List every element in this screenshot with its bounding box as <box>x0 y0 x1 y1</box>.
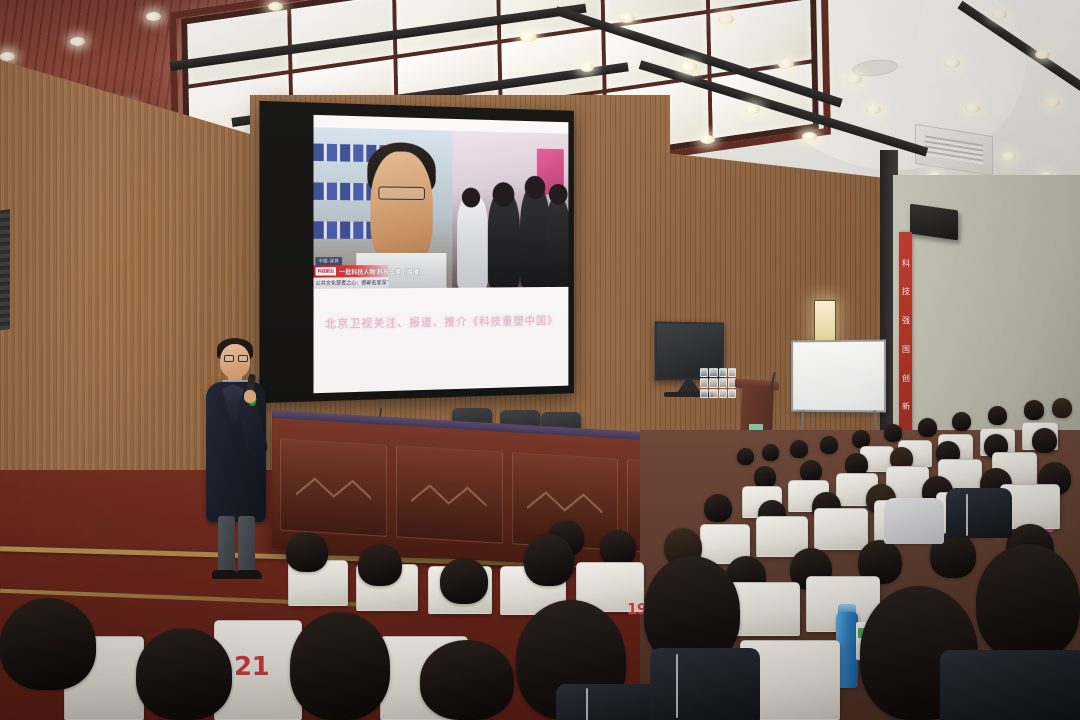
audience-head <box>762 444 779 461</box>
presenter-speaker <box>198 338 272 586</box>
audience-head <box>600 530 636 566</box>
podium-decor-panel <box>280 439 387 537</box>
slide-image-exhibition <box>452 131 568 288</box>
audience-uniform <box>946 488 1012 538</box>
audience-head <box>1052 398 1072 418</box>
downlight-icon <box>965 104 980 113</box>
downlight-icon <box>580 63 594 72</box>
downlight-icon <box>944 58 960 68</box>
audience-uniform <box>650 648 760 720</box>
downlight-icon <box>992 10 1007 19</box>
news-ticker-bar: 公共文化营者之心：邯郸名家深飞扬学带着乐助书院，报名大… <box>313 277 387 289</box>
banner-char: 创 <box>902 374 910 382</box>
presenter-hand <box>244 390 256 403</box>
presenter-shoe <box>212 570 238 579</box>
projection-screen-frame: 中国-深圳 科技前沿 一批科技人物 科技成果［展播］ 公共文化营者之心：邯郸名家… <box>259 101 573 403</box>
audience-head <box>754 466 776 488</box>
chevron-icon <box>411 482 486 508</box>
audience-head <box>704 494 732 522</box>
slide-image-news-interview: 中国-深圳 科技前沿 一批科技人物 科技成果［展播］ 公共文化营者之心：邯郸名家… <box>313 127 452 289</box>
audience-head <box>0 598 96 690</box>
audience-uniform <box>884 498 944 544</box>
audience-head <box>524 534 574 586</box>
glasses-icon <box>224 355 248 362</box>
banner-char: 科 <box>902 259 910 267</box>
audience-head <box>952 412 971 431</box>
banner-char: 技 <box>902 287 910 295</box>
audience-head <box>136 628 232 720</box>
downlight-icon <box>0 52 15 61</box>
downlight-icon <box>619 13 635 23</box>
audience-head <box>420 640 514 720</box>
banner-char: 国 <box>902 345 910 353</box>
audience-head <box>918 418 937 437</box>
audience-head <box>884 424 902 442</box>
audience-head <box>790 440 808 458</box>
chevron-icon <box>527 488 602 514</box>
slide-caption-text: 北京卫视关注、报道、推介《科技重塑中国》 <box>313 312 568 332</box>
audience-head <box>440 558 488 604</box>
downlight-icon <box>718 14 734 24</box>
uniform-stripe <box>676 654 678 718</box>
downlight-icon <box>700 135 715 144</box>
presenter-shoe <box>236 570 262 579</box>
whiteboard <box>791 340 886 413</box>
audience-head <box>358 544 402 586</box>
audience-head <box>737 448 754 465</box>
news-lower-third: 中国-深圳 科技前沿 一批科技人物 科技成果［展播］ 公共文化营者之心：邯郸名家… <box>313 288 387 289</box>
audience-head <box>820 436 838 454</box>
downlight-icon <box>268 2 283 11</box>
downlight-icon <box>778 59 794 69</box>
downlight-icon <box>1035 50 1050 59</box>
uniform-stripe <box>966 494 968 536</box>
audience-head <box>290 612 390 720</box>
news-title-bar: 科技前沿 一批科技人物 科技成果［展播］ <box>313 265 387 277</box>
slide-media-row: 中国-深圳 科技前沿 一批科技人物 科技成果［展播］ 公共文化营者之心：邯郸名家… <box>313 127 568 289</box>
auditorium-photo: 科 技 强 国 创 新 中国-深圳 <box>0 0 1080 720</box>
audience-head <box>286 532 328 572</box>
audience-head <box>988 406 1007 425</box>
news-headline: 一批科技人物 科技成果［展播］ <box>339 266 425 275</box>
audience-head <box>1032 428 1057 453</box>
audience-head <box>1024 400 1044 420</box>
banner-char: 新 <box>902 402 910 410</box>
wall-sconce-light <box>814 300 836 344</box>
vertical-red-banner: 科 技 强 国 创 新 <box>899 232 912 437</box>
downlight-icon <box>866 105 881 114</box>
wall-grille-left <box>0 209 10 331</box>
audience-head <box>800 460 822 482</box>
audience-seat <box>814 508 868 550</box>
downlight-icon <box>802 132 817 141</box>
downlight-icon <box>520 32 537 42</box>
downlight-icon <box>681 62 697 72</box>
presenter-leg <box>218 516 235 572</box>
seat-number: 21 <box>234 652 269 682</box>
news-label: 科技前沿 <box>316 267 336 275</box>
audience-uniform <box>940 650 1080 720</box>
news-ticker-text: 公共文化营者之心：邯郸名家深飞扬学带着乐助书院，报名大… <box>316 279 388 287</box>
downlight-icon <box>70 37 85 46</box>
news-channel-tag: 中国-深圳 <box>316 257 342 265</box>
presenter-leg <box>238 516 255 572</box>
uniform-stripe <box>586 688 588 720</box>
downlight-icon <box>1046 98 1060 107</box>
podium-decor-panel <box>396 445 503 543</box>
banner-char: 强 <box>902 316 910 324</box>
downlight-icon <box>146 12 161 21</box>
chevron-icon <box>296 475 371 501</box>
water-glass-tray <box>700 368 736 398</box>
audience-head <box>976 544 1080 660</box>
downlight-icon <box>1002 152 1016 161</box>
projection-screen-surface: 中国-深圳 科技前沿 一批科技人物 科技成果［展播］ 公共文化营者之心：邯郸名家… <box>313 115 568 393</box>
downlight-icon <box>846 74 862 84</box>
downlight-icon <box>745 105 760 114</box>
